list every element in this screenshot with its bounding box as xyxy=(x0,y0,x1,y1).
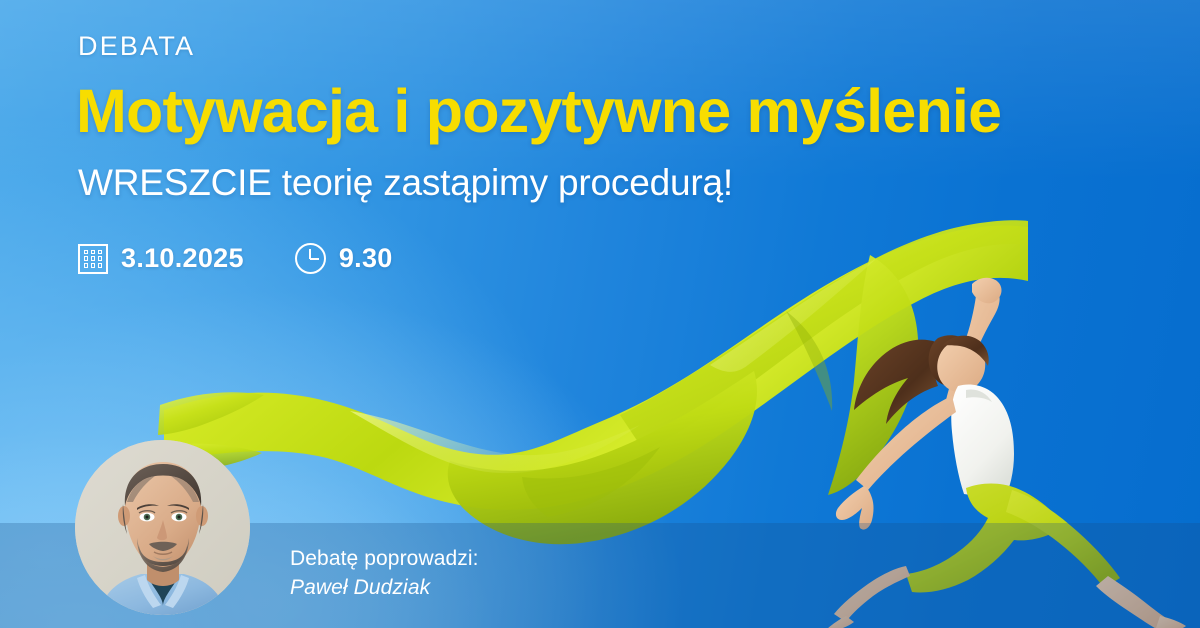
event-date: 3.10.2025 xyxy=(121,245,244,272)
kicker-label: DEBATA xyxy=(78,33,195,60)
presenter-block: Debatę poprowadzi: Paweł Dudziak xyxy=(290,545,479,603)
clock-icon xyxy=(295,243,326,274)
event-time: 9.30 xyxy=(339,245,393,272)
presenter-name: Paweł Dudziak xyxy=(290,574,479,603)
subtitle: WRESZCIE teorię zastąpimy procedurą! xyxy=(78,163,733,204)
avatar xyxy=(75,440,250,615)
page-title: Motywacja i pozytywne myślenie xyxy=(76,80,1001,143)
presenter-label: Debatę poprowadzi: xyxy=(290,545,479,574)
event-time-group: 9.30 xyxy=(295,243,393,274)
event-meta-row: 3.10.2025 9.30 xyxy=(78,243,393,274)
event-promo-banner: DEBATA Motywacja i pozytywne myślenie WR… xyxy=(0,0,1200,628)
calendar-icon xyxy=(78,244,108,274)
event-date-group: 3.10.2025 xyxy=(78,244,244,274)
